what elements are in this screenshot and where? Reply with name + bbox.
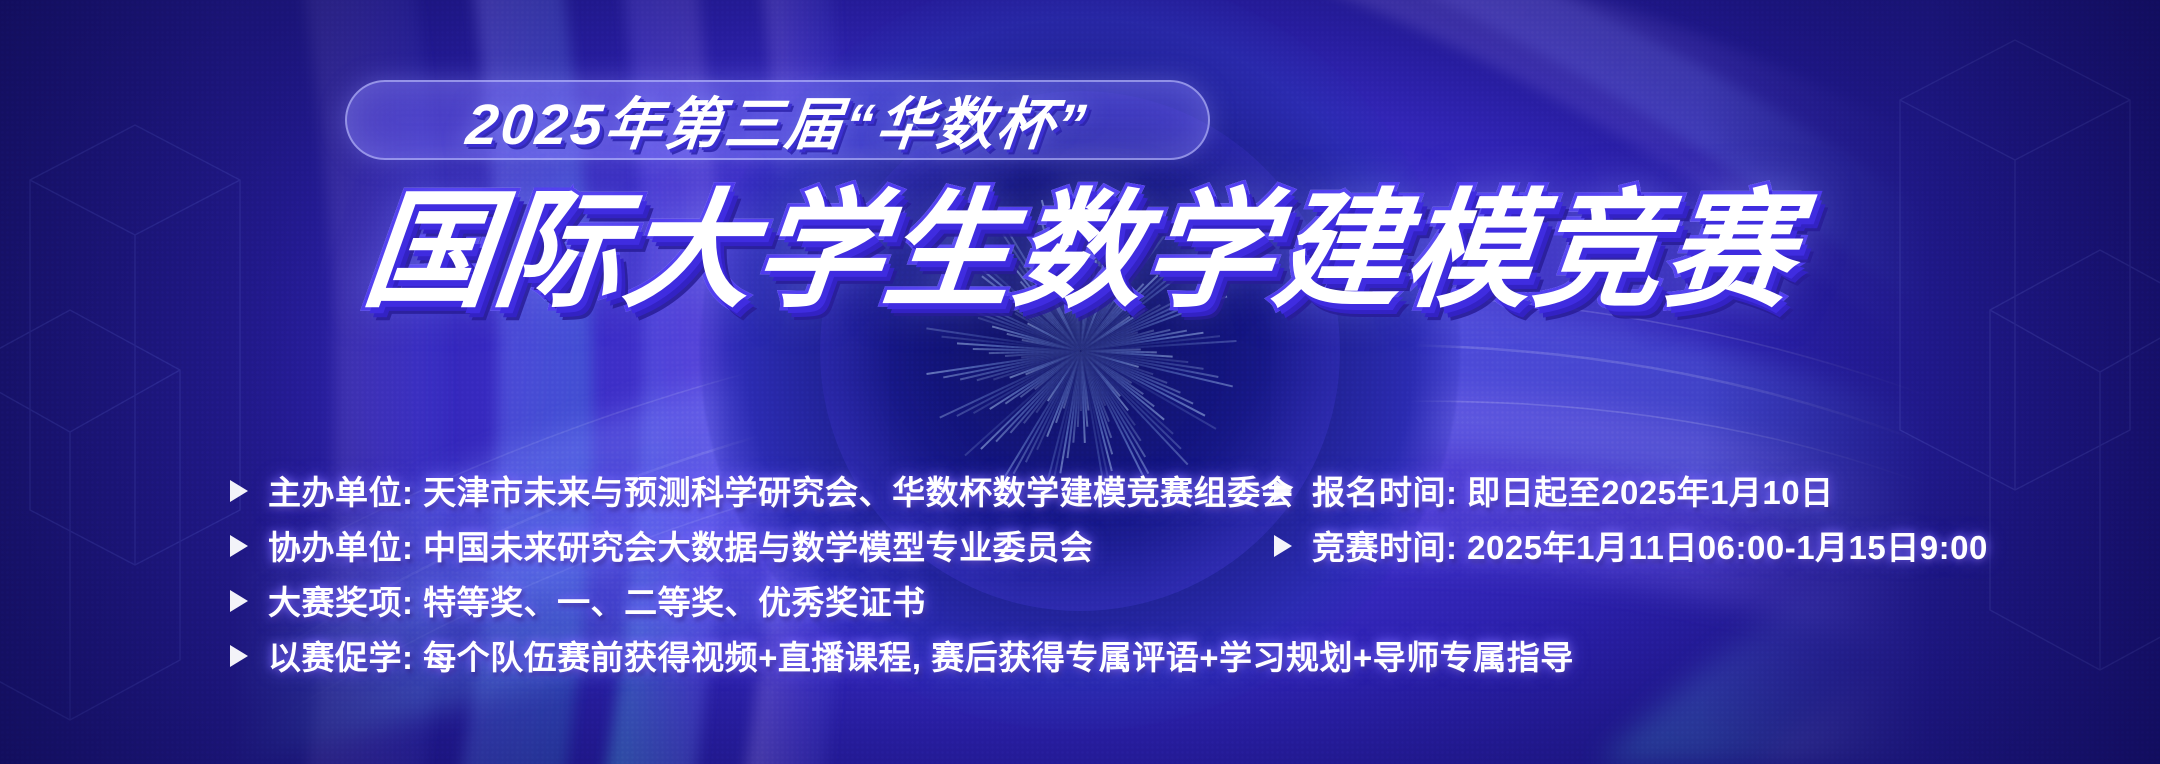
triangle-right-icon [1272,478,1294,504]
edition-badge-label: 2025年第三届“华数杯” [462,79,1092,161]
info-column-right: 报名时间: 即日起至2025年1月10日 竞赛时间: 2025年1月11日06:… [1272,462,2112,572]
triangle-right-icon [228,533,250,559]
edition-badge: 2025年第三届“华数杯” [345,80,1210,160]
triangle-right-icon [1272,533,1294,559]
list-item-label: 大赛奖项: 特等奖、一、二等奖、优秀奖证书 [268,576,926,624]
list-item: 竞赛时间: 2025年1月11日06:00-1月15日9:00 [1272,517,2112,572]
list-item-label: 主办单位: 天津市未来与预测科学研究会、华数杯数学建模竞赛组委会 [268,466,1294,514]
triangle-right-icon [228,588,250,614]
list-item: 协办单位: 中国未来研究会大数据与数学模型专业委员会 [228,517,1258,572]
list-item-label: 报名时间: 即日起至2025年1月10日 [1312,466,1834,514]
list-item: 以赛促学: 每个队伍赛前获得视频+直播课程, 赛后获得专属评语+学习规划+导师专… [228,627,1258,682]
page-title-text: 国际大学生数学建模竞赛 [358,180,1803,323]
promo-banner: 2025年第三届“华数杯” 国际大学生数学建模竞赛 主办单位: 天津市未来与预测… [0,0,2160,764]
list-item-label: 竞赛时间: 2025年1月11日06:00-1月15日9:00 [1312,521,1988,569]
list-item: 主办单位: 天津市未来与预测科学研究会、华数杯数学建模竞赛组委会 [228,462,1258,517]
list-item-label: 以赛促学: 每个队伍赛前获得视频+直播课程, 赛后获得专属评语+学习规划+导师专… [268,631,1574,679]
triangle-right-icon [228,478,250,504]
list-item: 报名时间: 即日起至2025年1月10日 [1272,462,2112,517]
info-columns: 主办单位: 天津市未来与预测科学研究会、华数杯数学建模竞赛组委会 协办单位: 中… [0,462,2160,712]
info-column-left: 主办单位: 天津市未来与预测科学研究会、华数杯数学建模竞赛组委会 协办单位: 中… [228,462,1258,682]
list-item: 大赛奖项: 特等奖、一、二等奖、优秀奖证书 [228,572,1258,627]
triangle-right-icon [228,643,250,669]
page-title: 国际大学生数学建模竞赛 [0,188,2160,316]
list-item-label: 协办单位: 中国未来研究会大数据与数学模型专业委员会 [268,521,1093,569]
